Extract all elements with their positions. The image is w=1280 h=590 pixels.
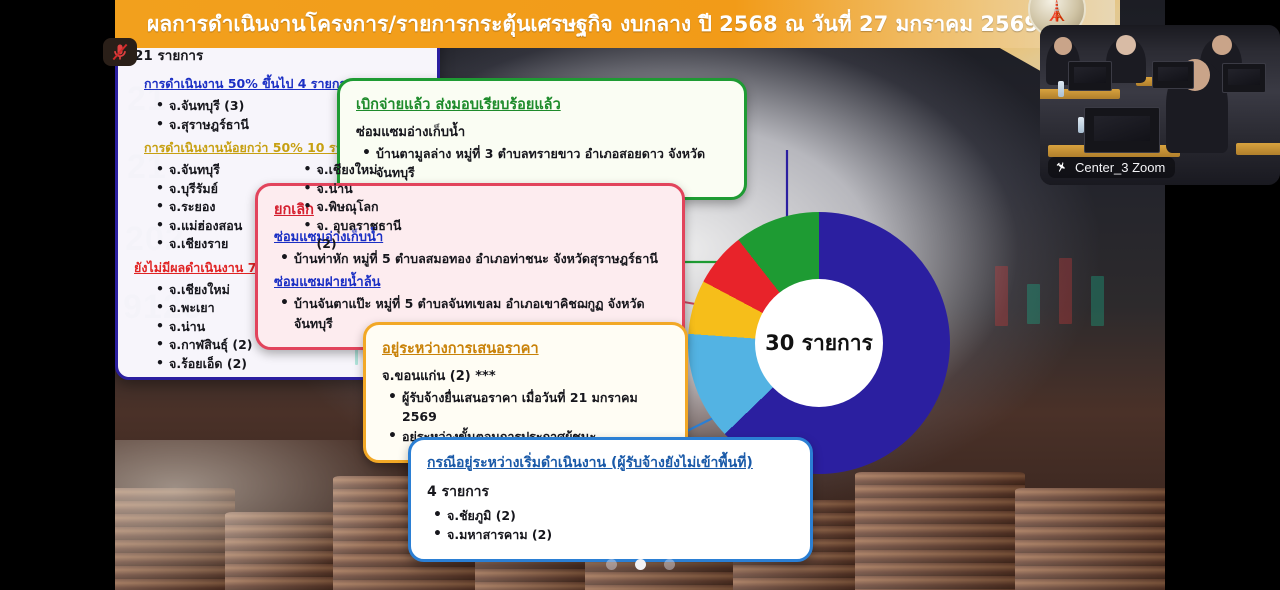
donut-center-label: 30 รายการ (755, 279, 883, 407)
list-item: จ.จันทบุรี (3) (156, 97, 423, 116)
group-list-no-progress: จ.เชียงใหม่ จ.พะเยา จ.น่าน จ.กาฬสินธุ์ (… (156, 281, 423, 374)
pagination-dot-active[interactable] (635, 559, 646, 570)
list-item: จ.ร้อยเอ็ด (2) (156, 355, 423, 374)
list-item: จ.พิษณุโลก (304, 198, 424, 217)
list-item: จ.น่าน (156, 318, 423, 337)
callout-header-bidding: อยู่ระหว่างการเสนอราคา (382, 337, 669, 360)
callout-count-not-started: 4 รายการ (427, 481, 794, 503)
list-item: จ.น่าน (304, 180, 424, 199)
callout-subheader-bidding: จ.ขอนแก่น (2) *** (382, 365, 669, 386)
list-item: ผู้รับจ้างยื่นเสนอราคา เมื่อวันที่ 21 มก… (388, 388, 669, 427)
list-item: จ.ระยอง (156, 198, 276, 217)
slide-pagination[interactable] (115, 559, 1165, 570)
group-list-above-50: จ.จันทบุรี (3) จ.สุราษฎร์ธานี (156, 97, 423, 134)
list-item: จ.สุราษฎร์ธานี (156, 116, 423, 135)
list-item: จ.บุรีรัมย์ (156, 180, 276, 199)
microphone-muted-icon (110, 42, 130, 62)
list-item: จ.มหาสารคาม (2) (433, 525, 794, 544)
callout-header-not-started: กรณีอยู่ระหว่างเริ่มดำเนินงาน (ผู้รับจ้า… (427, 452, 794, 474)
microphone-muted-indicator[interactable] (103, 38, 137, 66)
donut-center-value: 30 รายการ (765, 327, 873, 360)
list-item: จ.พะเยา (156, 299, 423, 318)
group-list-below-50-col2: จ.เชียงใหม่ จ.น่าน จ.พิษณุโลก จ. อุบลราช… (304, 161, 424, 254)
list-item: จ.เชียงใหม่ (304, 161, 424, 180)
participant-name-badge: Center_3 Zoom (1048, 157, 1175, 178)
callout-list-not-started: จ.ชัยภูมิ (2) จ.มหาสารคาม (2) (433, 506, 794, 545)
pin-icon (1055, 161, 1068, 174)
list-item: จ.กาฬสินธุ์ (2) (156, 336, 423, 355)
list-item: จ.แม่ฮ่องสอน (156, 217, 276, 236)
list-item: จ.เชียงใหม่ (156, 281, 423, 300)
list-item: จ. อุบลราชธานี (2) (304, 217, 424, 254)
list-item: จ.เชียงราย (156, 235, 276, 254)
donut-chart: 30 รายการ (688, 212, 950, 474)
pagination-dot[interactable] (606, 559, 617, 570)
participant-video-tile[interactable]: Center_3 Zoom (1040, 25, 1280, 185)
presentation-slide: 21 21 202 9125 120 (115, 0, 1165, 590)
participant-name: Center_3 Zoom (1075, 160, 1165, 175)
list-item: จ.จันทบุรี (156, 161, 276, 180)
list-item: จ.ชัยภูมิ (2) (433, 506, 794, 525)
pagination-dot[interactable] (664, 559, 675, 570)
group-list-below-50-col1: จ.จันทบุรี จ.บุรีรัมย์ จ.ระยอง จ.แม่ฮ่อง… (156, 161, 276, 254)
zoom-screen-share-stage: 21 21 202 9125 120 (0, 0, 1280, 590)
callout-box-not-started[interactable]: กรณีอยู่ระหว่างเริ่มดำเนินงาน (ผู้รับจ้า… (408, 437, 813, 562)
